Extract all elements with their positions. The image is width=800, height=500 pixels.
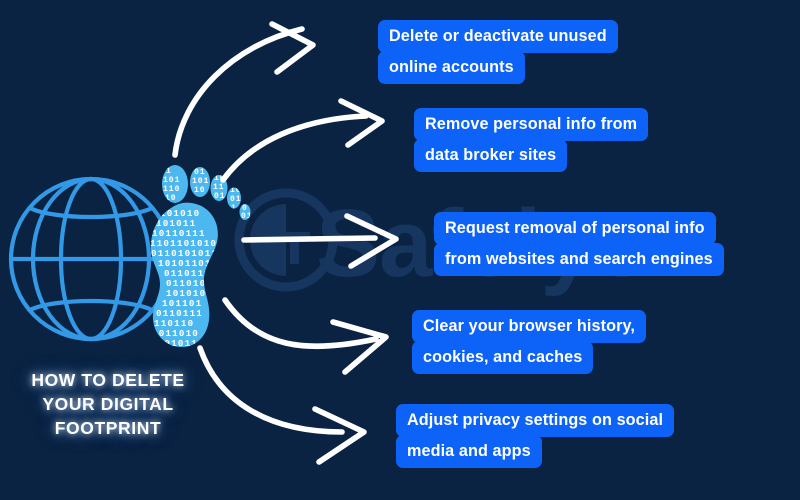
- title-line-3: FOOTPRINT: [8, 416, 208, 440]
- svg-text:01: 01: [230, 195, 242, 204]
- svg-text:01: 01: [194, 168, 206, 177]
- svg-text:10: 10: [165, 194, 177, 203]
- callout-item-3: Request removal of personal info from we…: [434, 212, 724, 276]
- callout-line: data broker sites: [414, 139, 567, 172]
- callout-item-1: Delete or deactivate unused online accou…: [378, 20, 618, 84]
- svg-text:11: 11: [213, 183, 225, 192]
- arrow-to-item-3: [244, 216, 396, 266]
- callout-line: Remove personal info from: [414, 108, 648, 141]
- callout-line: Adjust privacy settings on social: [396, 404, 674, 437]
- svg-text:1: 1: [166, 167, 172, 176]
- arrow-to-item-1: [175, 24, 313, 155]
- callout-line: from websites and search engines: [434, 243, 724, 276]
- infographic-canvas: Safelyo 101010 101011: [0, 0, 800, 500]
- callout-line: cookies, and caches: [412, 341, 593, 374]
- page-title: HOW TO DELETE YOUR DIGITAL FOOTPRINT: [8, 368, 208, 440]
- svg-text:110: 110: [163, 185, 180, 194]
- callout-line: media and apps: [396, 435, 542, 468]
- svg-text:1101011: 1101011: [151, 338, 198, 349]
- callout-line: online accounts: [378, 51, 525, 84]
- callout-line: Delete or deactivate unused: [378, 20, 618, 53]
- globe-footprint-graphic: 101010 101011 10110111 1101101010 011010…: [8, 160, 253, 360]
- footprint-icon: 101010 101011 10110111 1101101010 011010…: [150, 165, 253, 359]
- callout-item-4: Clear your browser history, cookies, and…: [412, 310, 646, 374]
- svg-text:01: 01: [241, 212, 253, 221]
- callout-line: Clear your browser history,: [412, 310, 646, 343]
- svg-text:101: 101: [163, 176, 180, 185]
- callout-item-2: Remove personal info from data broker si…: [414, 108, 648, 172]
- svg-text:01: 01: [214, 192, 226, 201]
- title-line-1: HOW TO DELETE: [8, 368, 208, 392]
- callout-line: Request removal of personal info: [434, 212, 716, 245]
- callout-item-5: Adjust privacy settings on social media …: [396, 404, 674, 468]
- svg-text:10: 10: [214, 174, 226, 183]
- svg-text:10: 10: [194, 186, 206, 195]
- svg-text:101: 101: [192, 177, 209, 186]
- globe-icon: [11, 179, 171, 339]
- svg-text:10101101: 10101101: [150, 348, 204, 359]
- arrow-to-item-5: [200, 348, 364, 462]
- svg-text:10: 10: [230, 186, 242, 195]
- svg-text:1: 1: [231, 204, 237, 213]
- title-line-2: YOUR DIGITAL: [8, 392, 208, 416]
